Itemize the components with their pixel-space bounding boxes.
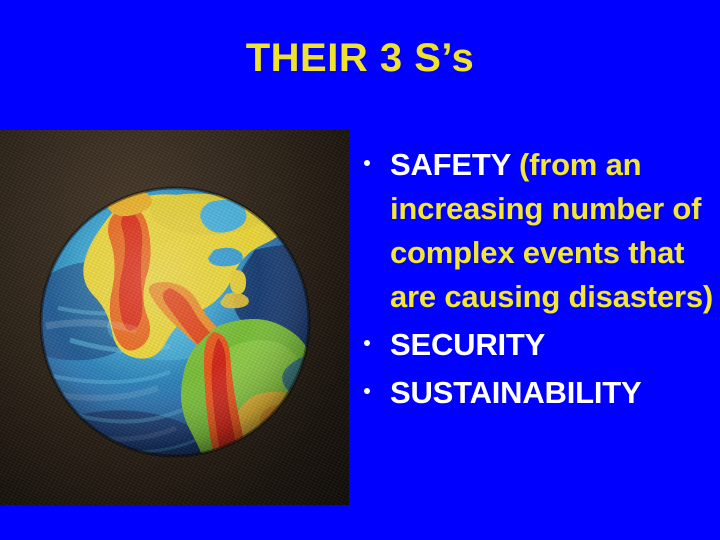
earth-globe-photo [0, 130, 349, 505]
bullet-segment-safety-label: SAFETY [390, 147, 519, 182]
list-item: SAFETY (from an increasing number of com… [358, 143, 713, 319]
bullet-text-security: SECURITY [390, 323, 713, 367]
list-item: SUSTAINABILITY [358, 371, 713, 415]
list-item: SECURITY [358, 323, 713, 367]
antarctic-rim-shadow [95, 472, 294, 500]
presentation-slide: THEIR 3 S’s [0, 0, 720, 540]
greenland [263, 189, 318, 223]
earth-globe-illustration [0, 130, 349, 505]
patagonia [230, 448, 256, 490]
bullet-point-icon [364, 160, 370, 166]
bullet-text-safety: SAFETY (from an increasing number of com… [390, 143, 713, 319]
bullet-point-icon [364, 340, 370, 346]
bullet-list: SAFETY (from an increasing number of com… [358, 143, 713, 417]
bullet-text-sustainability: SUSTAINABILITY [390, 371, 713, 415]
page-title: THEIR 3 S’s [0, 36, 720, 80]
bullet-point-icon [364, 388, 370, 394]
